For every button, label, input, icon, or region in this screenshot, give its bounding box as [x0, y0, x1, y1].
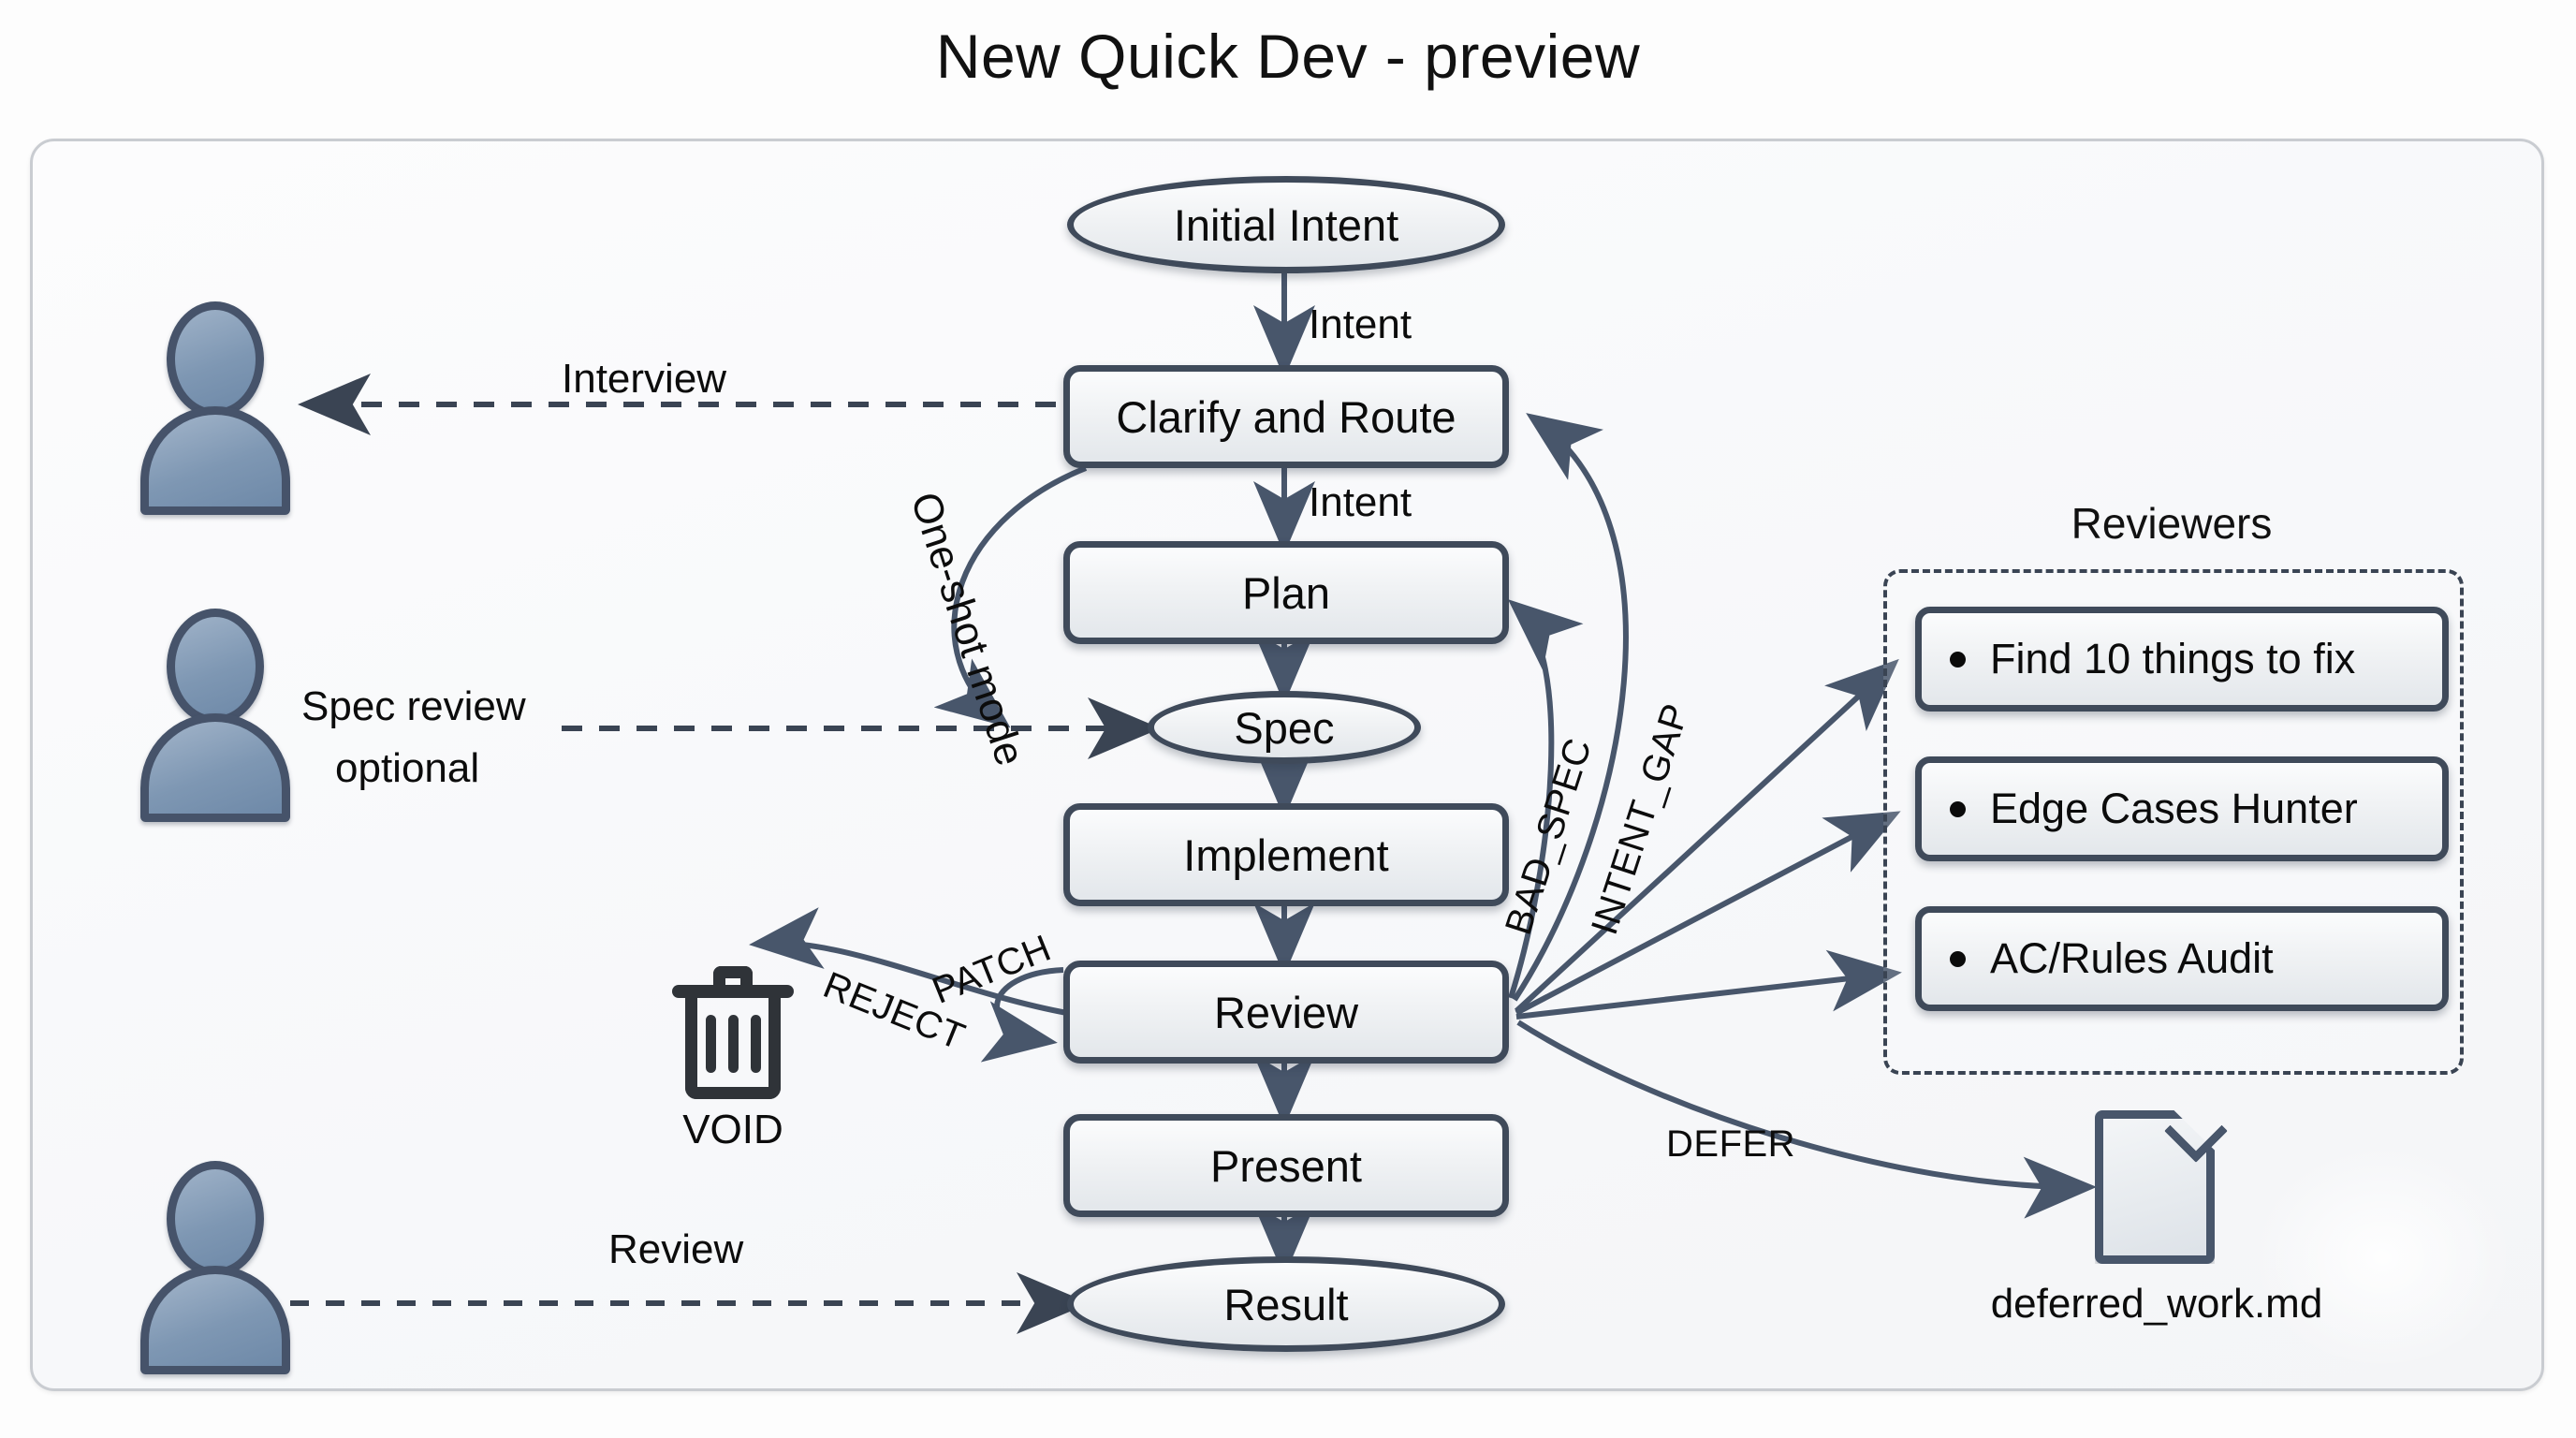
- actor-label-spec-review-line2: optional: [335, 745, 479, 792]
- file-icon: [2095, 1110, 2215, 1264]
- actor-head: [167, 1161, 264, 1277]
- edge-label-defer: DEFER: [1666, 1123, 1795, 1166]
- actor-label-spec-review-line1: Spec review: [301, 683, 526, 730]
- reviewer-label: Edge Cases Hunter: [1990, 785, 2358, 833]
- reviewers-title: Reviewers: [1881, 498, 2462, 549]
- node-implement[interactable]: Implement: [1063, 803, 1509, 906]
- trash-stripe: [728, 1015, 739, 1073]
- actor-head: [167, 609, 264, 725]
- actor-spec-review-icon[interactable]: [140, 609, 290, 796]
- diagram-canvas: New Quick Dev - preview: [0, 0, 2576, 1438]
- node-result[interactable]: Result: [1067, 1256, 1505, 1352]
- bullet-icon: [1950, 801, 1966, 817]
- node-spec[interactable]: Spec: [1148, 691, 1421, 764]
- trash-icon: [672, 961, 794, 1101]
- reviewer-label: Find 10 things to fix: [1990, 635, 2355, 683]
- actor-body: [140, 713, 290, 822]
- trash-stripe: [706, 1015, 716, 1073]
- bullet-icon: [1950, 652, 1966, 668]
- reviewer-find-10-things-to-fix[interactable]: Find 10 things to fix: [1915, 607, 2449, 712]
- bullet-icon: [1950, 951, 1966, 967]
- artifact-label-void: VOID: [655, 1107, 811, 1153]
- edge-label-intent-2: Intent: [1309, 479, 1412, 526]
- edge-label-intent-1: Intent: [1309, 301, 1412, 348]
- trash-lid: [672, 985, 794, 998]
- actor-head: [167, 301, 264, 418]
- node-present[interactable]: Present: [1063, 1114, 1509, 1217]
- reviewer-label: AC/Rules Audit: [1990, 934, 2274, 983]
- trash-stripe: [751, 1015, 761, 1073]
- node-review[interactable]: Review: [1063, 961, 1509, 1064]
- reviewer-ac-rules-audit[interactable]: AC/Rules Audit: [1915, 906, 2449, 1011]
- actor-label-review: Review: [608, 1226, 743, 1273]
- actor-interview-icon[interactable]: [140, 301, 290, 489]
- node-clarify-and-route[interactable]: Clarify and Route: [1063, 365, 1509, 468]
- actor-body: [140, 406, 290, 515]
- artifact-label-deferred-work: deferred_work.md: [1895, 1281, 2419, 1328]
- actor-label-interview: Interview: [562, 356, 726, 403]
- node-plan[interactable]: Plan: [1063, 541, 1509, 644]
- reviewer-edge-cases-hunter[interactable]: Edge Cases Hunter: [1915, 756, 2449, 861]
- actor-body: [140, 1266, 290, 1374]
- node-initial-intent[interactable]: Initial Intent: [1067, 176, 1505, 273]
- edge-review-to-reviewers: [1516, 667, 1891, 1017]
- actor-review-icon[interactable]: [140, 1161, 290, 1348]
